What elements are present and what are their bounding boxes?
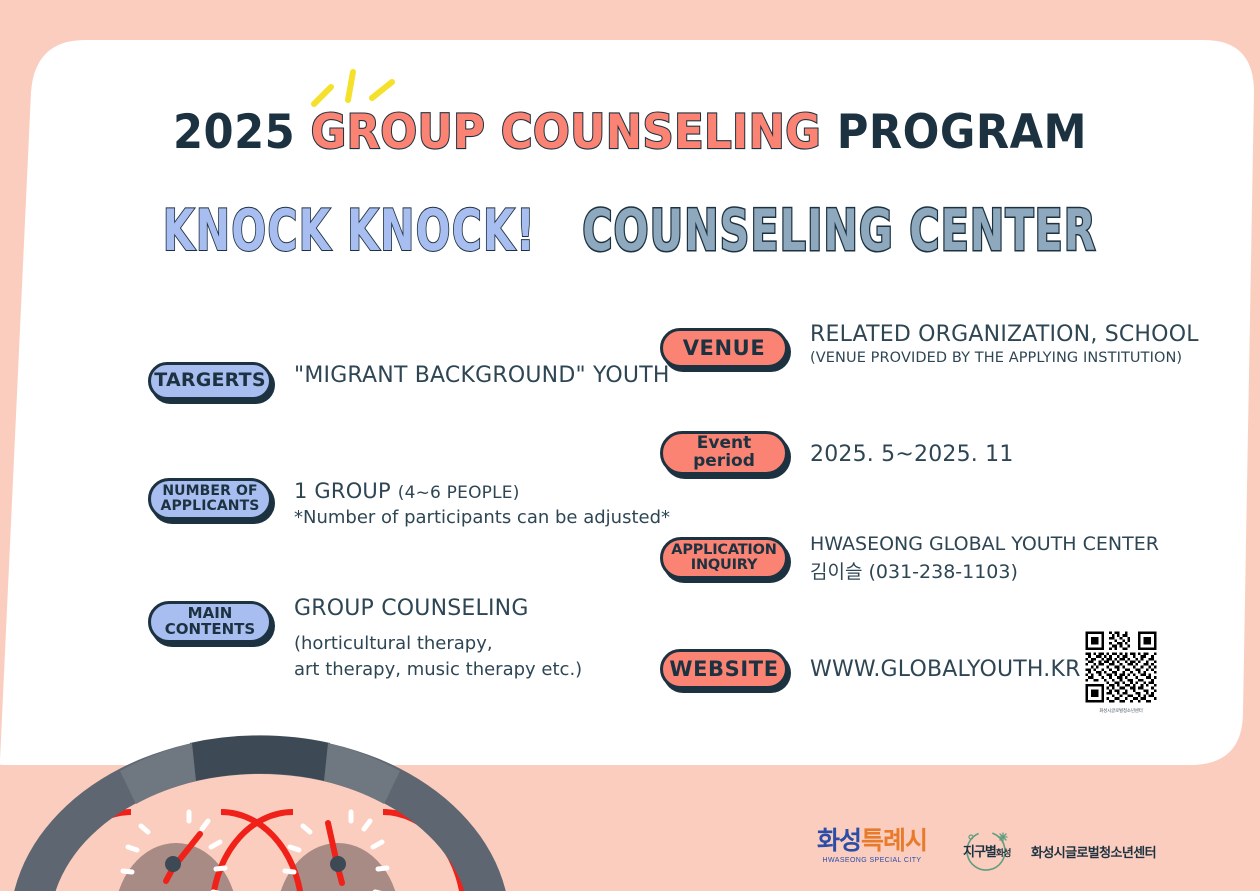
- badge-label-line1: NUMBER OF: [161, 484, 260, 499]
- subtitle-block: KNOCK KNOCK! COUNSELING CENTER: [0, 198, 1260, 264]
- badge-targets: TARGERTS: [148, 362, 272, 400]
- badge-event-period: Event period: [660, 431, 788, 475]
- inquiry-org: HWASEONG GLOBAL YOUTH CENTER: [810, 530, 1159, 559]
- badge-application-inquiry: APPLICATION INQUIRY: [660, 537, 788, 579]
- city-logo-hangul-2: 특례시: [861, 826, 927, 855]
- title-year: 2025: [173, 105, 295, 160]
- earth-circle-icon: 지구별화성: [955, 829, 1017, 873]
- earth-badge-small: 화성: [996, 849, 1011, 859]
- city-logo-hangul-1: 화성: [817, 826, 861, 855]
- hwaseong-special-city-logo: 화성특례시 HWASEONG SPECIAL CITY: [812, 828, 932, 864]
- applicants-range: (4~6 PEOPLE): [398, 483, 520, 503]
- badge-label-line1: APPLICATION: [671, 543, 776, 558]
- title-highlight: GROUP COUNSELING: [311, 105, 822, 160]
- title-block: 2025 GROUP COUNSELING PROGRAM: [0, 105, 1260, 160]
- venue-value: RELATED ORGANIZATION, SCHOOL: [810, 321, 1199, 349]
- steering-wheel-dashboard-illustration: [0, 716, 540, 891]
- hwaseong-global-youth-center-logo: 지구별화성 화성시글로벌청소년센터: [955, 829, 1156, 873]
- page-title: 2025 GROUP COUNSELING PROGRAM: [50, 105, 1209, 160]
- title-tail: PROGRAM: [837, 105, 1087, 160]
- main-contents-detail-1: (horticultural therapy,: [294, 631, 582, 657]
- main-contents-detail-2: art therapy, music therapy etc.): [294, 657, 582, 683]
- footer-logos: 화성특례시 HWASEONG SPECIAL CITY 지구별화성: [800, 826, 1200, 882]
- badge-label-line2: period: [693, 453, 755, 471]
- info-row-application-inquiry: APPLICATION INQUIRY HWASEONG GLOBAL YOUT…: [660, 537, 1200, 587]
- badge-label: WEBSITE: [669, 658, 778, 680]
- badge-label: TARGERTS: [154, 371, 265, 391]
- applicants-count: 1 GROUP: [294, 479, 391, 503]
- badge-number-of-applicants: NUMBER OF APPLICANTS: [148, 478, 272, 520]
- qr-caption: 화성시글로벌청소년센터: [1083, 708, 1159, 714]
- applicants-note: *Number of participants can be adjusted*: [294, 505, 670, 531]
- targets-value: "MIGRANT BACKGROUND" YOUTH: [294, 362, 670, 390]
- info-row-main-contents: MAIN CONTENTS GROUP COUNSELING (horticul…: [148, 601, 668, 683]
- left-info-column: TARGERTS "MIGRANT BACKGROUND" YOUTH NUMB…: [148, 362, 668, 683]
- badge-label-line2: APPLICANTS: [161, 499, 260, 514]
- badge-label-line2: CONTENTS: [165, 622, 255, 638]
- subtitle-center: COUNSELING CENTER: [583, 198, 1097, 264]
- info-row-targets: TARGERTS "MIGRANT BACKGROUND" YOUTH: [148, 362, 668, 400]
- badge-label: VENUE: [683, 337, 766, 359]
- applicants-value: 1 GROUP (4~6 PEOPLE): [294, 478, 670, 505]
- badge-venue: VENUE: [660, 328, 788, 368]
- earth-badge-text: 지구별화성: [963, 841, 1010, 860]
- poster-root: 2025 GROUP COUNSELING PROGRAM KNOCK KNOC…: [0, 0, 1260, 891]
- youth-center-name: 화성시글로벌청소년센터: [1031, 842, 1156, 861]
- subtitle-knock: KNOCK KNOCK!: [163, 198, 536, 264]
- inquiry-contact: 김이슬 (031-238-1103): [810, 558, 1159, 587]
- info-row-venue: VENUE RELATED ORGANIZATION, SCHOOL (VENU…: [660, 328, 1200, 369]
- badge-website: WEBSITE: [660, 649, 788, 689]
- earth-badge-main: 지구별: [963, 845, 996, 860]
- info-row-event-period: Event period 2025. 5~2025. 11: [660, 431, 1200, 475]
- website-url[interactable]: WWW.GLOBALYOUTH.KR: [810, 656, 1081, 684]
- event-period-value: 2025. 5~2025. 11: [810, 441, 1014, 469]
- qr-code[interactable]: [1083, 629, 1159, 705]
- venue-note: (VENUE PROVIDED BY THE APPLYING INSTITUT…: [810, 349, 1199, 369]
- qr-code-block: 화성시글로벌청소년센터: [1083, 629, 1159, 714]
- badge-label-line2: INQUIRY: [671, 558, 776, 573]
- city-logo-subtitle: HWASEONG SPECIAL CITY: [812, 857, 932, 864]
- main-contents-value: GROUP COUNSELING: [294, 595, 582, 623]
- city-logo-hangul: 화성특례시: [812, 828, 932, 853]
- info-row-applicants: NUMBER OF APPLICANTS 1 GROUP (4~6 PEOPLE…: [148, 478, 668, 531]
- badge-main-contents: MAIN CONTENTS: [148, 601, 272, 643]
